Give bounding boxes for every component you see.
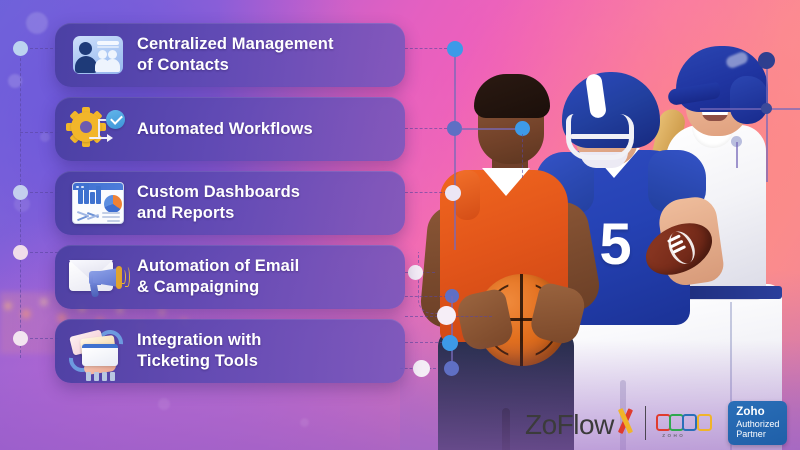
check-circle-icon [106,110,125,129]
feature-card-ticketing[interactable]: Integration with Ticketing Tools [55,319,405,383]
connector-left-spine [20,48,21,358]
dashboard-chart-icon [67,180,127,226]
partner-badge-line2: Authorized [736,419,779,429]
connector-right-v1 [454,50,456,250]
connector-right-stub-5 [405,296,447,297]
connector-node-right-8 [442,335,458,351]
gear-check-icon [67,106,127,152]
connector-far-right-v [766,62,768,182]
feature-card-contacts[interactable]: Centralized Management of Contacts [55,23,405,87]
zoho-logo-mark: ZOHO [656,410,718,436]
connector-node-left-4 [13,331,28,346]
feature-label-contacts: Centralized Management of Contacts [137,34,334,76]
contacts-card-icon [67,32,127,78]
connector-node-right-7 [437,306,456,325]
feature-label-dashboards: Custom Dashboards and Reports [137,182,300,224]
zoho-authorized-partner-badge: Zoho Authorized Partner [728,401,787,445]
connector-node-far-2 [761,103,772,114]
feature-label-email: Automation of Email & Campaigning [137,256,299,298]
email-megaphone-icon [67,254,127,300]
connector-node-right-9 [413,360,430,377]
connector-left-stub-2 [20,132,58,133]
connector-right-stub-2 [405,128,447,129]
connector-far-right-v2 [736,142,738,168]
connector-node-right-10 [444,361,459,376]
logo-divider [645,406,647,440]
connector-right-v2 [522,134,523,178]
feature-label-ticketing: Integration with Ticketing Tools [137,330,261,372]
partner-badge-line1: Zoho [736,406,779,419]
connector-right-stub-8 [405,342,443,343]
connector-node-left-2 [13,185,28,200]
feature-card-list: Centralized Management of Contacts [55,23,405,393]
connector-elbow-lower [418,252,450,314]
partner-badge-line3: Partner [736,429,779,439]
zoho-mark-caption: ZOHO [662,433,685,438]
zoho-square-blue [682,414,697,431]
connector-right-stub-3 [405,192,447,193]
infographic-stage: 5 [0,0,800,450]
connector-node-far-1 [758,52,775,69]
connector-node-left-1 [13,41,28,56]
zoho-square-yellow [697,414,712,431]
connector-node-left-3 [13,245,28,260]
feature-card-workflows[interactable]: Automated Workflows [55,97,405,161]
zoflowx-x-icon [615,408,635,434]
zoflowx-wordmark: ZoFlow [525,408,635,439]
feature-card-email[interactable]: Automation of Email & Campaigning [55,245,405,309]
branding-bar: ZoFlow ZOHO Zoho Authorized Partner [525,401,787,445]
zoflowx-wordmark-text: ZoFlow [525,411,614,439]
connector-far-right-h [700,108,800,110]
connector-node-right-5 [408,265,423,280]
connector-right-h2 [460,128,522,130]
connector-node-right-1 [447,41,463,57]
connector-right-stub-7 [456,316,492,317]
feature-card-dashboards[interactable]: Custom Dashboards and Reports [55,171,405,235]
feature-label-workflows: Automated Workflows [137,119,313,140]
connector-right-stub-1 [405,48,447,49]
tickets-refresh-icon [67,328,127,374]
connector-node-right-4 [445,185,461,201]
